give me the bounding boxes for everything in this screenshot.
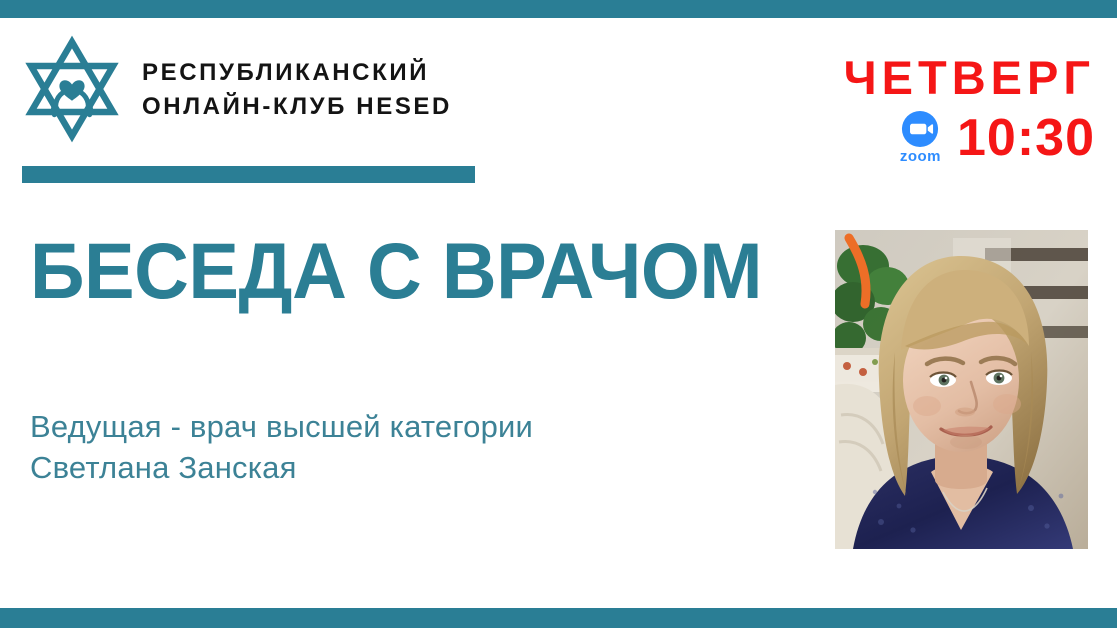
zoom-video-camera-icon xyxy=(901,110,939,148)
day-of-week-label: ЧЕТВЕРГ xyxy=(805,52,1095,104)
star-of-david-heart-hands-icon xyxy=(22,34,122,144)
club-name: РЕСПУБЛИКАНСКИЙ ОНЛАЙН-КЛУБ HESED xyxy=(142,54,452,124)
presenter-name-line: Светлана Занская xyxy=(30,447,730,488)
zoom-wordmark: zoom xyxy=(900,149,941,164)
poster-canvas: РЕСПУБЛИКАНСКИЙ ОНЛАЙН-КЛУБ HESED ЧЕТВЕР… xyxy=(0,0,1117,628)
time-row: zoom 10:30 xyxy=(805,110,1095,166)
zoom-logo: zoom xyxy=(900,110,941,166)
brand-header: РЕСПУБЛИКАНСКИЙ ОНЛАЙН-КЛУБ HESED xyxy=(22,34,452,144)
presenter-subtitle: Ведущая - врач высшей категории Светлана… xyxy=(30,406,730,488)
club-name-line-2: ОНЛАЙН-КЛУБ HESED xyxy=(142,90,452,124)
time-label: 10:30 xyxy=(957,111,1095,165)
top-accent-bar xyxy=(0,0,1117,18)
page-title: БЕСЕДА С ВРАЧОМ xyxy=(30,228,762,314)
schedule-block: ЧЕТВЕРГ zoom 10:30 xyxy=(805,52,1095,166)
club-name-line-1: РЕСПУБЛИКАНСКИЙ xyxy=(142,56,452,90)
bottom-accent-bar xyxy=(0,608,1117,628)
header-divider-rule xyxy=(22,166,475,183)
presenter-photo xyxy=(835,230,1088,549)
presenter-role-line: Ведущая - врач высшей категории xyxy=(30,406,730,447)
